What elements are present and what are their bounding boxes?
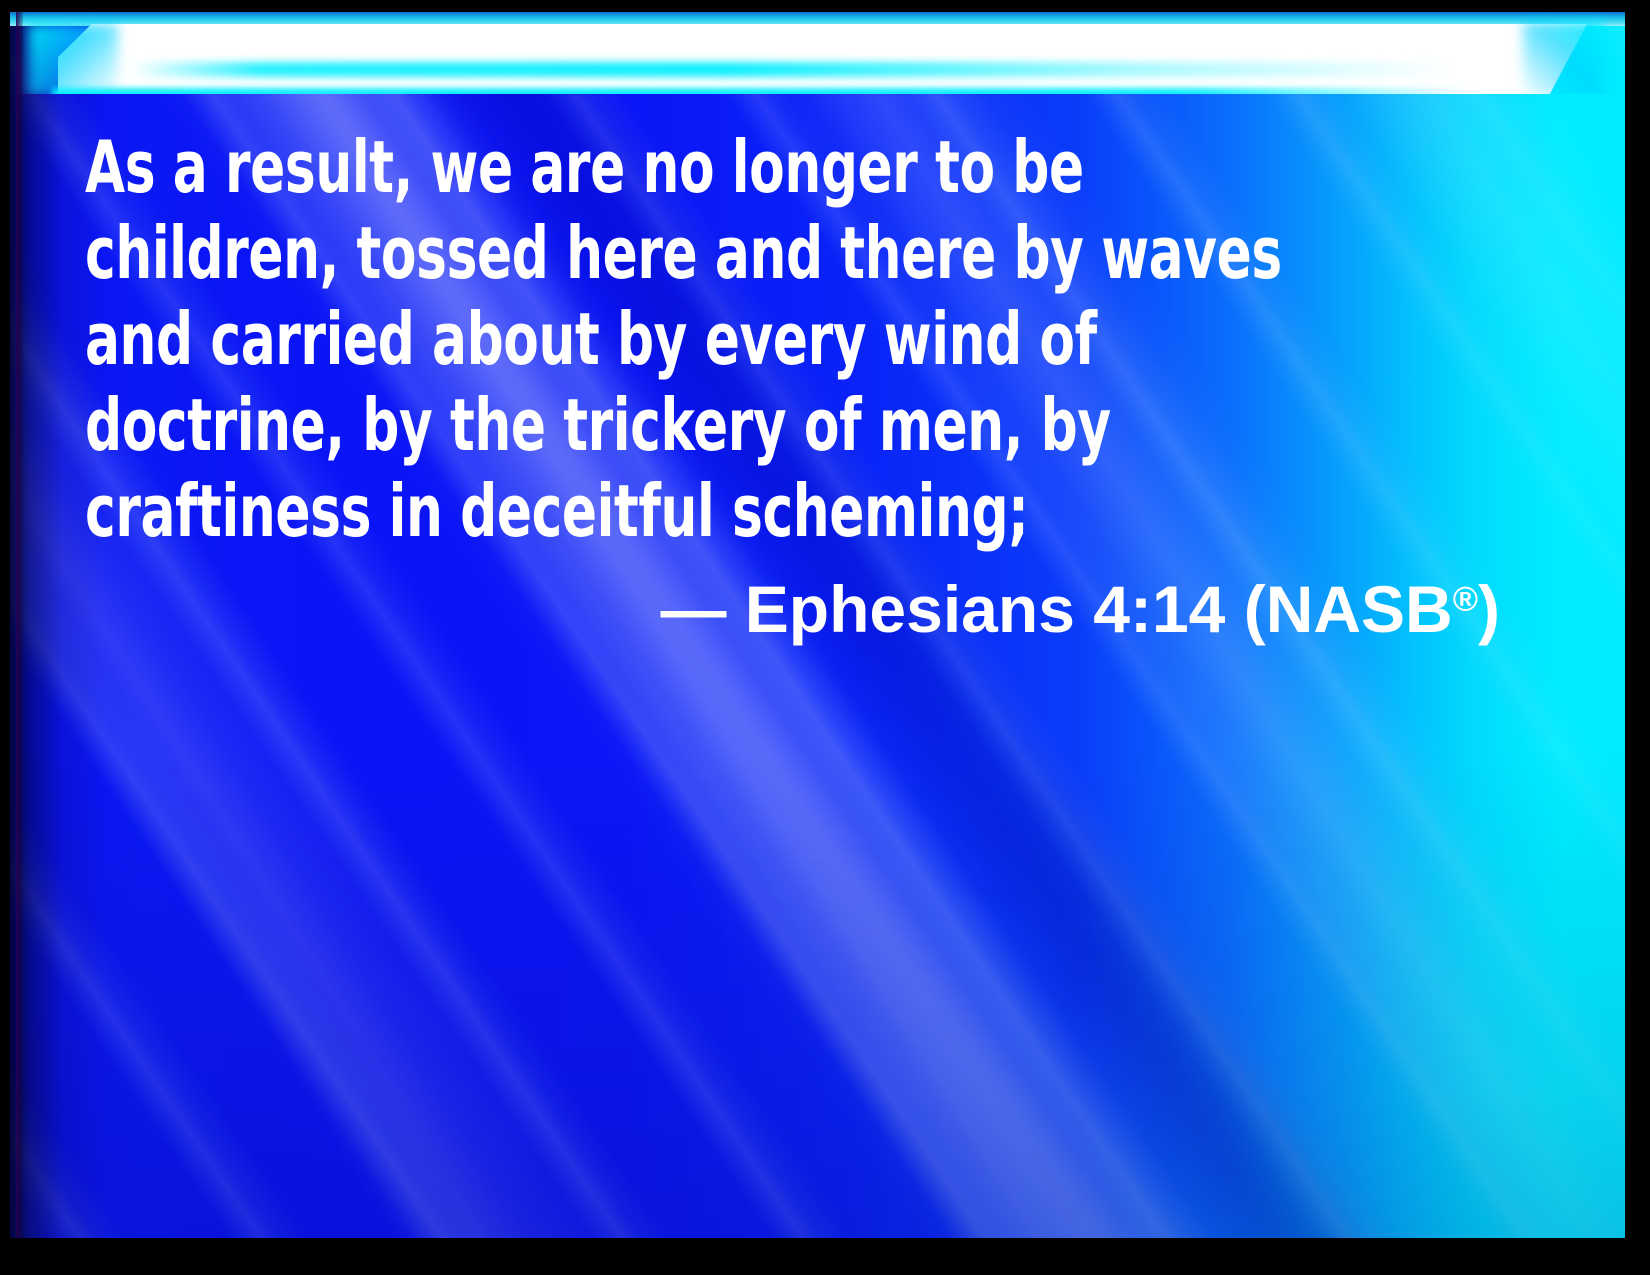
verse-line-3: and carried about by every wind of (85, 296, 1253, 382)
band-cyan-rule (10, 12, 1625, 26)
scripture-citation: — Ephesians 4:14 (NASB®) (85, 566, 1500, 652)
citation-translation-close: ) (1478, 572, 1500, 646)
verse-line-5: craftiness in deceitful scheming; (85, 468, 1253, 554)
citation-book: Ephesians (745, 572, 1075, 646)
band-aqua-streak (130, 62, 1455, 77)
citation-em-dash: — (660, 572, 726, 646)
top-highlight-band (10, 12, 1625, 94)
slide-stage: As a result, we are no longer to be chil… (0, 0, 1650, 1275)
citation-reference: 4:14 (1093, 572, 1225, 646)
band-left-wedge (28, 24, 118, 94)
registered-trademark-icon: ® (1453, 581, 1478, 619)
citation-translation-open: (NASB (1244, 572, 1453, 646)
band-aqua-underline (52, 88, 1475, 94)
slide-canvas: As a result, we are no longer to be chil… (10, 12, 1625, 1238)
band-right-wedge (1523, 22, 1603, 94)
verse-line-4: doctrine, by the trickery of men, by (85, 382, 1253, 468)
verse-text-block: As a result, we are no longer to be chil… (85, 124, 1545, 652)
band-white-slab (58, 24, 1587, 94)
verse-line-1: As a result, we are no longer to be (85, 124, 1253, 210)
verse-line-2: children, tossed here and there by waves (85, 210, 1253, 296)
